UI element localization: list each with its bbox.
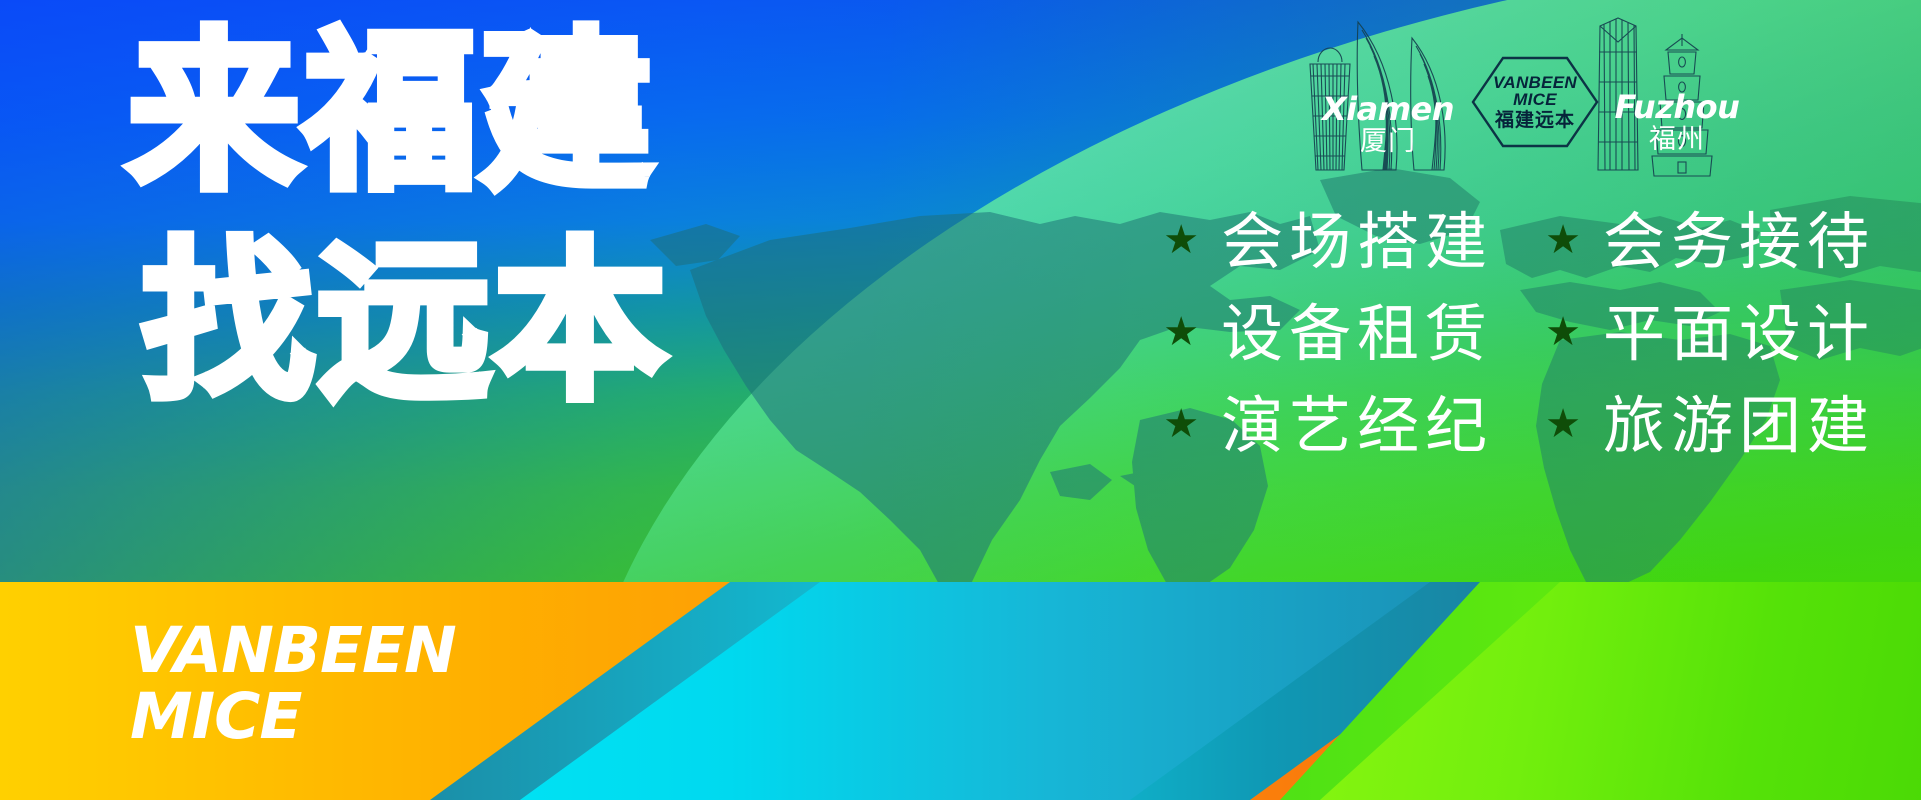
service-label: 会场搭建	[1221, 205, 1493, 279]
brand-logotype: VANBEEN MICE	[130, 618, 456, 750]
headline-line-1: 来福建	[128, 38, 670, 188]
service-label: 设备租赁	[1221, 297, 1493, 371]
star-icon: ★	[1163, 404, 1199, 444]
service-item: ★ 旅游团建	[1545, 389, 1875, 463]
service-list: ★ 会场搭建 ★ 会务接待 ★ 设备租赁 ★ 平面设计 ★ 演艺经纪 ★ 旅游团…	[1163, 205, 1875, 463]
vanbeen-hex-badge: VANBEEN MICE 福建远本	[1471, 56, 1599, 148]
star-icon: ★	[1545, 220, 1581, 260]
service-item: ★ 演艺经纪	[1163, 389, 1493, 463]
star-icon: ★	[1545, 312, 1581, 352]
hex-badge-line-2: MICE	[1513, 91, 1557, 108]
city-xiamen: Xiamen 厦门	[1308, 92, 1468, 158]
star-icon: ★	[1545, 404, 1581, 444]
hex-badge-line-1: VANBEEN	[1493, 74, 1577, 91]
city-xiamen-cn: 厦门	[1308, 126, 1468, 158]
star-icon: ★	[1163, 312, 1199, 352]
headline: 来福建 找远本	[128, 38, 670, 398]
banner-stage: 来福建 找远本 ★ 会场搭建 ★ 会务接待 ★ 设备租赁 ★ 平面设计 ★	[0, 0, 1921, 582]
service-label: 平面设计	[1603, 297, 1875, 371]
service-label: 旅游团建	[1603, 389, 1875, 463]
star-icon: ★	[1163, 220, 1199, 260]
city-fuzhou-en: Fuzhou	[1592, 90, 1762, 124]
promo-banner: 来福建 找远本 ★ 会场搭建 ★ 会务接待 ★ 设备租赁 ★ 平面设计 ★	[0, 0, 1921, 800]
headline-line-2: 找远本	[142, 248, 670, 398]
city-fuzhou-cn: 福州	[1592, 124, 1762, 156]
brand-line-1: VANBEEN	[130, 618, 456, 684]
service-label: 演艺经纪	[1221, 389, 1493, 463]
service-item: ★ 会场搭建	[1163, 205, 1493, 279]
hex-badge-line-3: 福建远本	[1495, 111, 1575, 130]
bottom-brand-bar: VANBEEN MICE	[0, 582, 1921, 800]
service-label: 会务接待	[1603, 205, 1875, 279]
service-item: ★ 设备租赁	[1163, 297, 1493, 371]
city-fuzhou: Fuzhou 福州	[1592, 90, 1762, 156]
service-item: ★ 会务接待	[1545, 205, 1875, 279]
city-cluster: Xiamen 厦门 Fuzhou 福州 VANBEEN MICE 福建远本	[1300, 4, 1770, 184]
brand-line-2: MICE	[130, 684, 456, 750]
city-xiamen-en: Xiamen	[1308, 92, 1468, 126]
service-item: ★ 平面设计	[1545, 297, 1875, 371]
